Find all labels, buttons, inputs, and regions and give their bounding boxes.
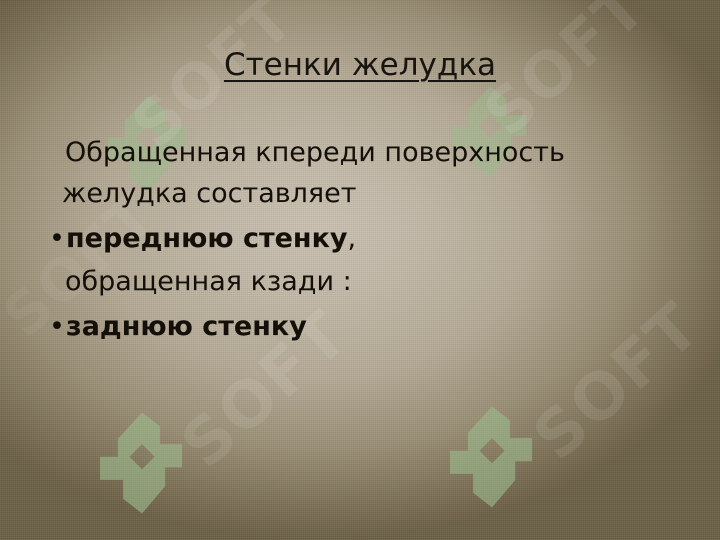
list-item-content: заднюю стенку — [66, 308, 686, 345]
body-line-3-wrapper: обращенная кзади : — [38, 263, 686, 300]
soft-s-logo-icon — [100, 412, 182, 514]
page-title: Стенки желудка — [0, 46, 720, 84]
list-item: • переднюю стенку, — [38, 220, 686, 257]
bullet-marker-icon: • — [38, 308, 66, 345]
list-item-trailing: , — [348, 223, 357, 254]
bullet-marker-icon: • — [38, 220, 66, 257]
soft-s-logo-icon — [450, 406, 532, 508]
body-paragraph-continued: желудка составляет — [38, 175, 686, 212]
slide-body: Обращенная кпереди поверхность желудка с… — [38, 134, 686, 351]
list-item: • заднюю стенку — [38, 308, 686, 345]
list-item-content: переднюю стенку, — [66, 220, 686, 257]
presentation-slide: SOFT SOFT SOFT SOFT SOFT Стенки желудка … — [0, 0, 720, 540]
body-paragraph: Обращенная кпереди поверхность — [38, 134, 686, 171]
body-line-2: желудка составляет — [62, 178, 357, 209]
body-line-3: обращенная кзади : — [65, 266, 352, 297]
list-item-label: заднюю стенку — [66, 311, 307, 342]
title-text: Стенки желудка — [224, 47, 496, 83]
body-line-1: Обращенная кпереди поверхность — [65, 137, 565, 168]
list-item-label: переднюю стенку — [66, 223, 348, 254]
